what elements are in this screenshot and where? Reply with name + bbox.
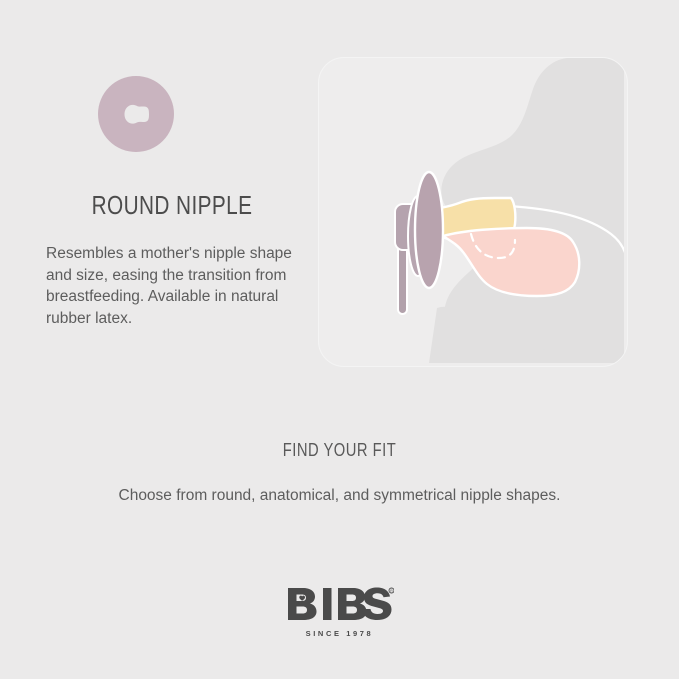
round-nipple-shape-icon <box>98 76 174 152</box>
feature-description: Resembles a mother's nipple shape and si… <box>46 243 298 329</box>
bibs-wordmark: R <box>286 586 394 624</box>
feature-title: ROUND NIPPLE <box>71 190 273 221</box>
pacifier-shield <box>415 172 443 288</box>
baby-head-cross-section-illustration <box>319 58 624 363</box>
product-feature-page: ROUND NIPPLE Resembles a mother's nipple… <box>0 0 679 679</box>
bibs-wordmark-glyphs: R <box>286 586 394 620</box>
feature-top-section: ROUND NIPPLE Resembles a mother's nipple… <box>0 0 679 400</box>
feature-info-column: ROUND NIPPLE Resembles a mother's nipple… <box>46 76 298 329</box>
find-your-fit-title: FIND YOUR FIT <box>61 440 618 461</box>
illustration-card <box>318 57 628 367</box>
find-your-fit-subtitle: Choose from round, anatomical, and symme… <box>0 487 679 505</box>
brand-tagline: SINCE 1978 <box>0 629 679 638</box>
brand-logo: R SINCE 1978 <box>0 586 679 638</box>
find-your-fit-block: FIND YOUR FIT Choose from round, anatomi… <box>0 440 679 505</box>
